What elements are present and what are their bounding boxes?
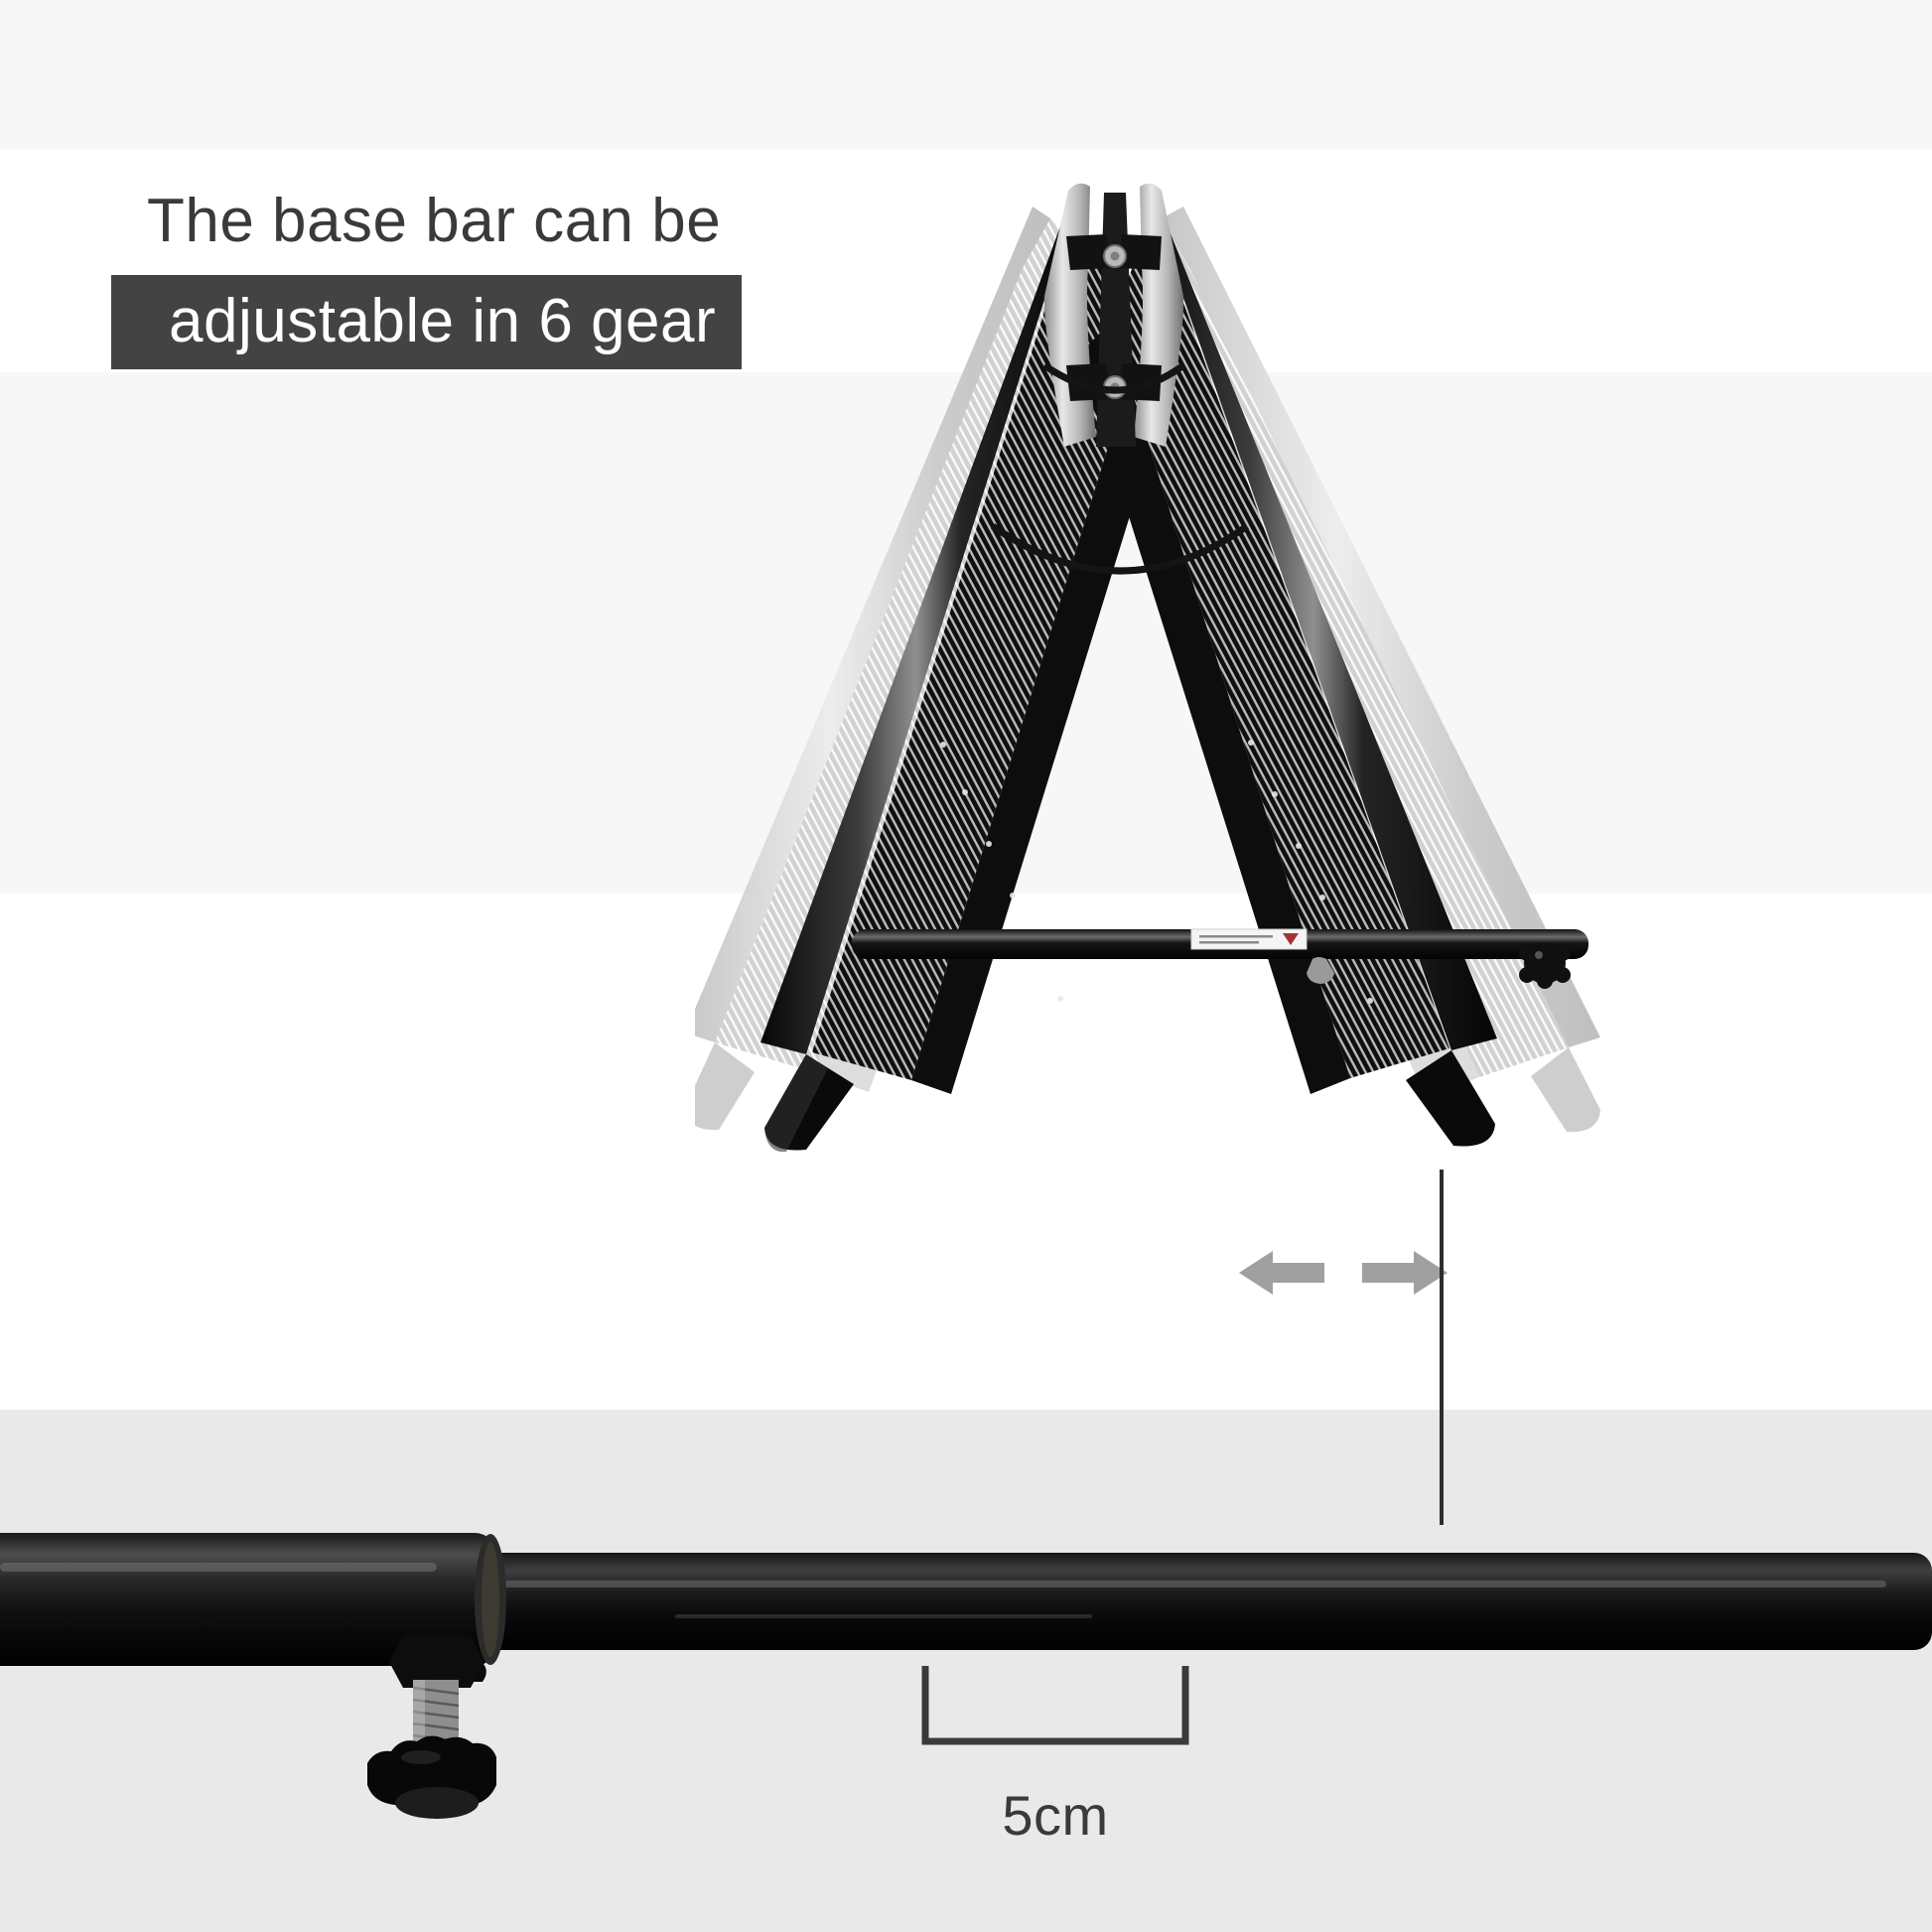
base-bar-adjustment-knob xyxy=(349,1636,588,1864)
measurement-bracket xyxy=(921,1664,1189,1749)
caption-line-2: adjustable in 6 gear xyxy=(169,289,716,353)
apex-folded-tubes xyxy=(1044,184,1183,447)
arrow-right-icon xyxy=(1362,1251,1448,1295)
measurement-5cm: 5cm xyxy=(921,1664,1219,1892)
star-knob-icon xyxy=(367,1735,496,1819)
inner-rod xyxy=(467,1553,1932,1650)
product-photo-a-frame xyxy=(695,149,1787,1152)
adjust-direction-arrows xyxy=(1239,1239,1448,1311)
measurement-label: 5cm xyxy=(921,1783,1189,1848)
leader-line xyxy=(1440,1170,1444,1525)
caption-highlight-box: adjustable in 6 gear xyxy=(111,275,742,369)
arrow-left-icon xyxy=(1239,1251,1324,1295)
background-band-top xyxy=(0,0,1932,149)
crossbar-adjustment-knob xyxy=(1519,942,1571,989)
infographic-canvas: The base bar can be adjustable in 6 gear xyxy=(0,0,1932,1932)
warning-sticker xyxy=(1191,929,1307,949)
